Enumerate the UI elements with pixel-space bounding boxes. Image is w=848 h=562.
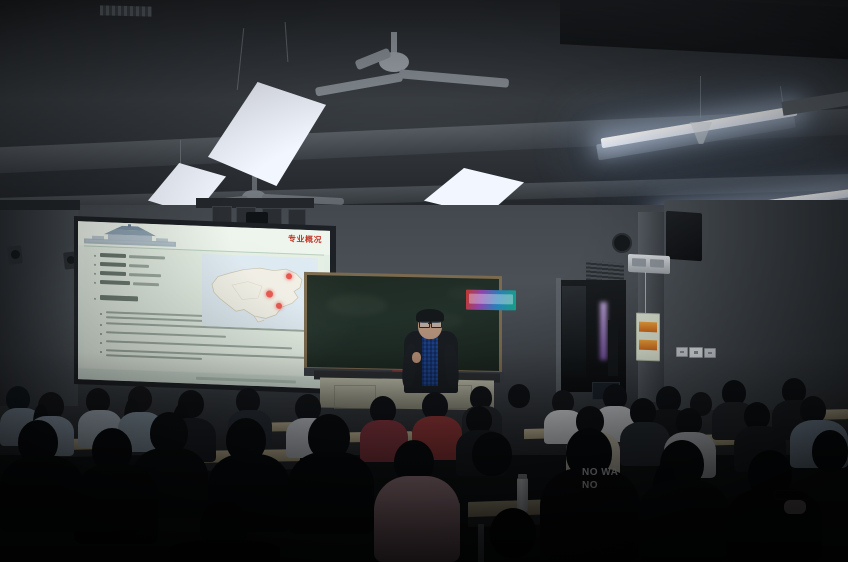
map-marker <box>276 303 282 309</box>
slide-bullet-marker <box>100 351 102 353</box>
presenter-glasses-bridge <box>428 323 431 324</box>
audience-head-front <box>490 508 536 558</box>
water-bottle <box>517 478 528 512</box>
power-outlet-3[interactable] <box>704 348 716 358</box>
presenter-hand <box>412 352 421 363</box>
chinese-traditional-building-icon <box>84 222 176 248</box>
desk-leg <box>478 524 484 562</box>
audience-head <box>472 432 512 476</box>
slide-title: 专业概况 <box>288 233 322 245</box>
eyeglasses <box>774 490 810 500</box>
jacket-text-line-2: NO <box>582 481 598 492</box>
audience-body-pink <box>374 476 460 562</box>
slide-bullet-marker <box>100 333 102 335</box>
map-marker <box>286 273 292 279</box>
slide-bullet-marker <box>100 313 102 315</box>
air-conditioner-unit <box>628 254 670 274</box>
jacket-text-line-1: NO WA <box>582 468 618 479</box>
face-mask <box>784 500 806 514</box>
projection-screen: 专业概况 <box>78 221 330 389</box>
wall-speaker-right <box>666 211 702 262</box>
map-marker <box>266 290 273 297</box>
audience-body <box>288 452 374 534</box>
light-hanger <box>700 76 701 118</box>
slide-bullet-marker <box>100 342 102 344</box>
presenter-shirt <box>422 334 438 386</box>
classroom-doorway[interactable] <box>560 280 626 392</box>
door-frame <box>556 278 561 396</box>
audience-body-front <box>170 540 280 562</box>
audience-body <box>74 464 158 544</box>
wall-banner-poster <box>466 290 516 311</box>
hanging-cord <box>645 272 646 314</box>
slide-bullet-marker <box>94 298 96 300</box>
wall-corner-post <box>638 212 664 402</box>
classroom-photo: 专业概况 <box>0 0 848 562</box>
presenter-glasses-right <box>431 321 442 328</box>
china-map-graphic <box>202 254 318 330</box>
audience-head <box>508 384 530 408</box>
wall-clock <box>612 233 632 253</box>
audience-body <box>638 480 730 562</box>
power-outlet-1[interactable] <box>676 347 688 357</box>
left-wall-column <box>0 200 78 406</box>
left-wall-trim <box>0 200 80 210</box>
slide-bullet-marker <box>94 282 96 284</box>
slide-bullet-marker <box>94 264 96 266</box>
audience-head <box>812 430 848 472</box>
wall-speaker-left <box>7 245 23 264</box>
ceiling-vent <box>100 5 152 16</box>
power-outlet-2[interactable] <box>689 347 703 358</box>
audience-body <box>0 456 84 532</box>
slide-bullet-marker <box>94 273 96 275</box>
water-bottle-cap <box>518 474 527 479</box>
orange-wall-notice <box>636 313 660 362</box>
slide-bullet-marker <box>94 255 96 257</box>
slide-bullet-marker <box>100 324 102 326</box>
